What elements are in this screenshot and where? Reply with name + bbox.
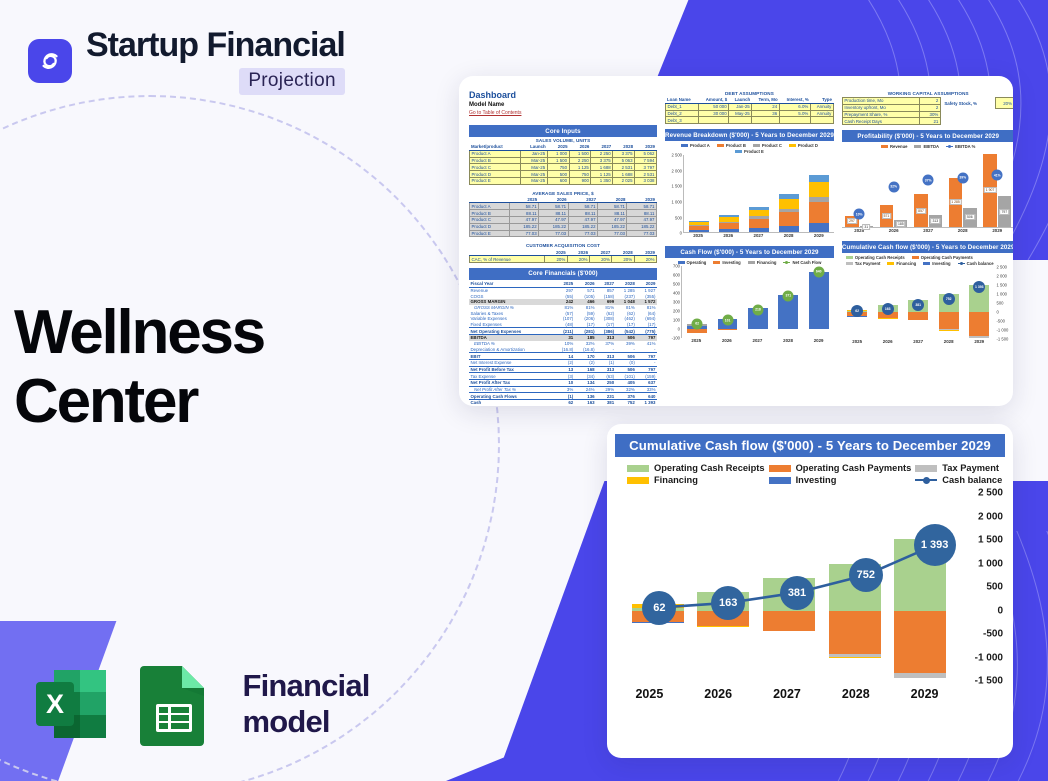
table-cell: [698, 117, 728, 124]
row-label: Tax Expense: [469, 373, 553, 380]
legend-label: Investing: [796, 475, 837, 485]
legend-item: Product C: [753, 143, 782, 148]
table-cell: 47.97: [568, 217, 597, 224]
table-row: Tax Expense(3)(34)(63)(101)(159): [469, 373, 657, 380]
table-cell: 1 125: [569, 164, 591, 171]
legend-swatch: [681, 144, 688, 147]
y-tick: 500: [664, 215, 682, 220]
table-cell: 7 594: [635, 157, 657, 164]
table-cell: 168: [575, 366, 596, 373]
legend-swatch: [923, 262, 930, 265]
working-capital-caption: WORKING CAPITAL ASSUMPTIONS: [842, 90, 1013, 97]
table-cell: Product E: [470, 230, 510, 237]
table-cell: 136: [575, 393, 596, 400]
cash-balance-point: 752: [849, 558, 883, 592]
legend-swatch: [789, 144, 796, 147]
table-cell: Debt_1: [666, 103, 699, 110]
legend-swatch: [846, 262, 853, 265]
table-cell: 33%: [636, 386, 657, 393]
table-cell: 1 350: [591, 177, 613, 184]
table-cell: 185.22: [509, 223, 538, 230]
bar-segment: [809, 202, 828, 223]
safety-stock-value: 20%: [995, 98, 1013, 109]
table-cell: Jan-25: [520, 150, 547, 157]
legend-label: Product A: [690, 143, 710, 148]
cash-balance-line-small: [842, 267, 1013, 406]
table-cell: 797: [636, 353, 657, 360]
table-cell: 185.22: [598, 223, 627, 230]
legend-swatch: [912, 256, 919, 259]
table-cell: Product A: [470, 203, 510, 210]
table-cell: 1 393: [636, 400, 657, 407]
y-tick: 1 500: [664, 184, 682, 189]
table-cell: Product E: [470, 177, 521, 184]
cumulative-cash-flow-chart-small: Operating Cash ReceiptsOperating Cash Pa…: [842, 253, 1013, 344]
row-label: Net Interest Expense: [469, 359, 553, 366]
table-cell: Product D: [470, 223, 510, 230]
x-tick: 2026: [723, 233, 733, 238]
table-cell: 50 000: [698, 103, 728, 110]
safety-stock-table: Safety Stock, % 20%: [943, 97, 1013, 109]
table-cell: 185.22: [627, 223, 657, 230]
dashboard-title: Dashboard: [469, 90, 657, 100]
table-cell: 21: [919, 118, 940, 125]
table-cell: 88.11: [598, 210, 627, 217]
table-cell: 20%: [567, 256, 589, 263]
legend-item: Product B: [717, 143, 746, 148]
bar-column: [779, 155, 798, 232]
table-cell: (34): [575, 373, 596, 380]
y-tick: 100: [664, 318, 680, 323]
legend-item: Operating Cash Payments: [912, 255, 973, 260]
legend-swatch: [627, 465, 649, 472]
table-cell: 2: [919, 104, 940, 111]
row-label: Operating Cash Flows: [469, 393, 553, 400]
legend-label: Operating: [687, 260, 707, 265]
table-cell: 47.97: [598, 217, 627, 224]
table-cell: Annuity: [810, 103, 833, 110]
y-tick: 600: [664, 273, 680, 278]
bar-segment: [809, 175, 828, 182]
working-capital-block: Production time, Mo2Inventory upfront, M…: [842, 97, 1013, 125]
table-cell: 5 063: [613, 157, 635, 164]
table-cell: May-25: [729, 110, 752, 117]
table-cell: Product B: [470, 157, 521, 164]
legend-item: Product E: [735, 149, 764, 154]
table-cell: 47.97: [509, 217, 538, 224]
table-cell: 1 500: [569, 150, 591, 157]
dashboard-inputs-column: Dashboard Model Name Go to Table of Cont…: [469, 90, 657, 406]
table-cell: 47.97: [539, 217, 568, 224]
table-cell: 1 500: [547, 157, 569, 164]
average-price-table: 20252026202720282029 Product A58.7158.71…: [469, 197, 657, 238]
legend-label: Operating Cash Receipts: [654, 463, 765, 473]
cumulative-cash-flow-card[interactable]: Cumulative Cash flow ($'000) - 5 Years t…: [607, 424, 1013, 758]
table-cell: 88.11: [568, 210, 597, 217]
table-cell: Prepayment Share, %: [842, 111, 919, 118]
cash-flow-bar: Cash Flow ($'000) - 5 Years to December …: [665, 246, 834, 258]
legend-swatch: [748, 261, 755, 264]
table-cell: (3): [553, 373, 574, 380]
y-tick: 1 000: [664, 199, 682, 204]
table-cell: 88.11: [509, 210, 538, 217]
table-cell: 77.03: [509, 230, 538, 237]
table-cell: 88.11: [627, 210, 657, 217]
swirl-e-logo-icon: [28, 39, 72, 83]
row-label: Net Profit Before Tax: [469, 366, 553, 373]
table-cell: 750: [569, 171, 591, 178]
line-point-label: 62: [692, 318, 703, 329]
legend-label: Product B: [726, 143, 746, 148]
cash-balance-point: 381: [780, 576, 814, 610]
dashboard-preview-card[interactable]: Dashboard Model Name Go to Table of Cont…: [459, 76, 1013, 406]
x-tick: 2025: [623, 687, 675, 701]
table-cell: 2: [919, 98, 940, 105]
y-tick: 1 000: [978, 558, 1003, 569]
bar-column: [809, 155, 828, 232]
y-tick: 2 500: [978, 488, 1003, 499]
legend-label: Financing: [757, 260, 777, 265]
legend-swatch: [881, 145, 888, 148]
table-row: Product B88.1188.1188.1188.1188.11: [470, 210, 657, 217]
line-point-label: 10%: [854, 209, 865, 220]
table-cell: 185.22: [568, 223, 597, 230]
brand-text: Startup Financial Projection: [86, 28, 345, 95]
legend-item: Tax Payment: [915, 463, 1002, 473]
table-cell: 500: [547, 171, 569, 178]
table-cell: 30%: [919, 111, 940, 118]
table-cell: 20%: [590, 256, 612, 263]
page-title-line1: Wellness: [14, 298, 264, 367]
line-point-label: 39%: [957, 172, 968, 183]
table-cell: (1): [596, 359, 616, 366]
legend-item: Financing: [627, 475, 765, 485]
table-cell: 20%: [634, 256, 656, 263]
table-cell: 14: [553, 353, 574, 360]
y-tick: 400: [664, 291, 680, 296]
bar-segment: [779, 212, 798, 226]
model-name-label: Model Name: [469, 102, 657, 108]
table-row: Product AJan-251 0001 5002 2503 3755 062: [470, 150, 657, 157]
table-cell: Mar-25: [520, 171, 547, 178]
table-cell: 13: [553, 366, 574, 373]
microsoft-excel-icon: X: [30, 662, 114, 746]
table-cell: (63): [596, 373, 616, 380]
table-row: Variable Expenses(107)(206)(308)(462)(69…: [469, 316, 657, 322]
legend-item: Revenue: [881, 144, 907, 149]
legend-label: Product C: [762, 143, 782, 148]
bar-segment: [719, 229, 738, 232]
dashboard-right-column: WORKING CAPITAL ASSUMPTIONS Production t…: [842, 90, 1013, 406]
legend-label: Investing: [722, 260, 740, 265]
core-financials-table: Fiscal Year20252026202720282029 Revenue2…: [469, 281, 657, 406]
financial-model-label: Financial model: [242, 668, 450, 740]
core-financials-bar: Core Financials ($'000): [469, 268, 657, 280]
table-cell: [779, 117, 810, 124]
table-cell: 77.03: [568, 230, 597, 237]
legend-item: Product A: [681, 143, 710, 148]
legend-label: Revenue: [890, 144, 907, 149]
y-tick: 2 000: [978, 511, 1003, 522]
legend-item: Investing: [713, 260, 740, 265]
legend-swatch: [753, 144, 760, 147]
table-cell: 6.0%: [779, 103, 810, 110]
legend-swatch: [783, 262, 790, 263]
table-row: Debt_230 000May-25365.0%Annuity: [666, 110, 834, 117]
x-tick: 2028: [830, 687, 882, 701]
legend-label: Operating Cash Payments: [921, 255, 973, 260]
debt-assumptions-table: Loan NameAmount, $LaunchTerm, MoInterest…: [665, 97, 834, 124]
table-header-row: Market/productLaunch20252026202720282029: [470, 144, 657, 150]
line-point-label: 218: [752, 304, 763, 315]
table-row: Cash Receipt Days21: [842, 118, 940, 125]
table-cell: (2): [575, 359, 596, 366]
legend-swatch: [713, 261, 720, 264]
profitability-chart: RevenueEBITDAEBITDA % 297315711858573131…: [842, 142, 1013, 233]
table-row: Net Interest Expense(2)(2)(1)(0)-: [469, 359, 657, 366]
table-cell: Debt_2: [666, 110, 699, 117]
table-cell: 1 688: [613, 171, 635, 178]
table-cell: Production time, Mo: [842, 98, 919, 105]
table-cell: (211): [553, 328, 574, 335]
legend-swatch: [735, 150, 742, 153]
bar-segment: [779, 226, 798, 232]
y-tick: -500: [983, 629, 1003, 640]
table-row: Prepayment Share, %30%: [842, 111, 940, 118]
table-cell: 170: [575, 353, 596, 360]
bar-segment: [689, 230, 708, 232]
table-cell: 185.22: [539, 223, 568, 230]
line-point-label: 752: [943, 293, 955, 305]
table-cell: 32%: [616, 386, 637, 393]
table-cell: 58.71: [598, 203, 627, 210]
legend-label: Cash balance: [942, 475, 1002, 485]
table-cell: (0): [616, 359, 637, 366]
brand-subtitle: Projection: [239, 68, 345, 95]
revenue-breakdown-chart: Product AProduct BProduct CProduct DProd…: [665, 141, 834, 238]
y-tick: -1 000: [975, 652, 1003, 663]
table-cell: 506: [616, 353, 637, 360]
table-row: Product EMar-256009001 3502 0253 038: [470, 177, 657, 184]
table-row: Net Profit Before Tax13168313506797: [469, 366, 657, 373]
table-cell: 5 062: [635, 150, 657, 157]
table-cell: 62: [553, 400, 574, 407]
legend-item: EBITDA %: [946, 144, 975, 149]
x-axis: 20252026202720282029: [615, 687, 959, 701]
table-cell: 163: [575, 400, 596, 407]
table-cell: 2 250: [591, 150, 613, 157]
legend-item: Operating Cash Receipts: [846, 255, 905, 260]
legend-item: Operating Cash Receipts: [627, 463, 765, 473]
bar-column: [689, 155, 708, 232]
table-cell: 640: [636, 393, 657, 400]
x-tick: 2028: [784, 233, 794, 238]
table-cell: 231: [596, 393, 616, 400]
left-panel: Startup Financial Projection Wellness Ce…: [0, 0, 450, 781]
bar-segment: [809, 182, 828, 196]
table-cell: 797: [636, 366, 657, 373]
legend-swatch: [769, 477, 791, 484]
y-tick: 1 500: [978, 535, 1003, 546]
row-label: Net Profit After Tax: [469, 379, 553, 386]
table-cell: 58.71: [627, 203, 657, 210]
legend-label: Product E: [744, 149, 764, 154]
table-cell: Product D: [470, 171, 521, 178]
table-cell: 58.71: [539, 203, 568, 210]
legend-label: Net Cash Flow: [792, 260, 821, 265]
y-tick: 2 500: [664, 153, 682, 158]
table-cell: 405: [616, 379, 637, 386]
revenue-breakdown-bar: Revenue Breakdown ($'000) - 5 Years to D…: [665, 129, 834, 141]
safety-stock-label: Safety Stock, %: [943, 98, 996, 109]
cash-balance-point: 1 393: [914, 524, 956, 566]
table-cell: 77.03: [627, 230, 657, 237]
legend-item: Product D: [789, 143, 818, 148]
y-tick: 0: [997, 605, 1003, 616]
table-row: Net Profit After Tax %3%24%29%32%33%: [469, 386, 657, 393]
table-cell: 2 025: [613, 177, 635, 184]
y-tick: 700: [664, 264, 680, 269]
table-cell: 752: [616, 400, 637, 407]
table-cell: (386): [596, 328, 616, 335]
line-point-label: 37%: [923, 175, 934, 186]
table-row: Cash621633817521 393: [469, 400, 657, 407]
y-tick: -1 500: [975, 676, 1003, 687]
legend-label: Operating Cash Payments: [796, 463, 912, 473]
legend-swatch: [946, 146, 953, 147]
legend-item: Operating Cash Payments: [769, 463, 912, 473]
y-tick: 500: [664, 282, 680, 287]
legend-label: EBITDA: [923, 144, 939, 149]
working-capital-table: Production time, Mo2Inventory upfront, M…: [842, 97, 941, 125]
table-cell: 2 250: [569, 157, 591, 164]
x-tick: 2029: [814, 233, 824, 238]
legend-swatch: [915, 479, 937, 481]
table-cell: 58.71: [568, 203, 597, 210]
table-cell: 58.71: [509, 203, 538, 210]
legend-label: Financing: [654, 475, 698, 485]
sales-volume-caption: SALES VOLUME, UNITS: [469, 137, 657, 144]
table-cell: Product C: [470, 164, 521, 171]
chart-plot-area: 2 5002 0001 5001 0005000-500-1 000-1 500…: [625, 493, 999, 681]
cash-balance-point: 163: [711, 586, 745, 620]
table-cell: (1): [553, 393, 574, 400]
table-cell: Product A: [470, 150, 521, 157]
table-cell: 637: [636, 379, 657, 386]
table-cell: 24: [752, 103, 779, 110]
line-point-label: 32%: [888, 181, 899, 192]
table-of-contents-link[interactable]: Go to Table of Contents: [469, 110, 657, 116]
x-tick: 2027: [754, 233, 764, 238]
cac-table: 20252026202720282029 CAC, % of Revenue20…: [469, 249, 657, 263]
bar-column: [719, 155, 738, 232]
table-cell: 376: [616, 393, 637, 400]
dashboard-heading-block: Dashboard Model Name Go to Table of Cont…: [469, 90, 657, 116]
row-label: EBIT: [469, 353, 553, 360]
table-cell: 88.11: [539, 210, 568, 217]
legend-swatch: [958, 263, 965, 264]
profitability-bar: Profitability ($'000) - 5 Years to Decem…: [842, 130, 1013, 142]
table-cell: Cash Receipt Days: [842, 118, 919, 125]
x-tick: 2029: [899, 687, 951, 701]
table-cell: 30 000: [698, 110, 728, 117]
legend-item: Net Cash Flow: [783, 260, 821, 265]
cumulative-chart-title: Cumulative Cash flow ($'000) - 5 Years t…: [615, 434, 1005, 457]
row-label: Cash: [469, 400, 553, 407]
table-cell: [810, 117, 833, 124]
y-tick: 500: [986, 582, 1003, 593]
legend-item: Cash balance: [915, 475, 1002, 485]
table-row: Net Operating Expenses(211)(281)(386)(54…: [469, 328, 657, 335]
page-title: Wellness Center: [14, 298, 264, 437]
table-cell: 2 531: [613, 164, 635, 171]
legend-swatch: [769, 465, 791, 472]
table-row: Debt_3: [666, 117, 834, 124]
legend-label: Operating Cash Receipts: [855, 255, 905, 260]
table-cell: 313: [596, 353, 616, 360]
y-tick: 200: [664, 309, 680, 314]
table-cell: 313: [596, 366, 616, 373]
cac-caption: CUSTOMER ACQUISITION COST: [469, 242, 657, 249]
y-tick: 300: [664, 300, 680, 305]
table-cell: 77.03: [539, 230, 568, 237]
table-row: EBIT14170313506797: [469, 353, 657, 360]
core-inputs-bar: Core Inputs: [469, 125, 657, 137]
legend-item: Financing: [748, 260, 777, 265]
bar-segment: [749, 219, 768, 228]
table-cell: Jan-25: [729, 103, 752, 110]
table-cell: 47.97: [627, 217, 657, 224]
table-cell: (101): [616, 373, 637, 380]
line-point-label: 101: [722, 315, 733, 326]
legend-label: Tax Payment: [942, 463, 999, 473]
chart-legend: Operating Cash ReceiptsOperating Cash Pa…: [615, 457, 1005, 489]
table-cell: Mar-25: [520, 177, 547, 184]
table-cell: 1 688: [591, 164, 613, 171]
table-cell: [752, 117, 779, 124]
legend-label: Product D: [798, 143, 818, 148]
table-row: Product E77.0377.0377.0377.0377.03: [470, 230, 657, 237]
table-cell: 506: [616, 366, 637, 373]
table-cell: 1 000: [547, 150, 569, 157]
legend-item: Investing: [769, 475, 912, 485]
table-cell: 20%: [545, 256, 567, 263]
table-cell: 2 531: [635, 171, 657, 178]
cash-flow-chart: OperatingInvestingFinancingNet Cash Flow…: [665, 258, 834, 343]
table-cell: 3 375: [591, 157, 613, 164]
line-point-label: 371: [783, 290, 794, 301]
bar-segment: [749, 228, 768, 232]
legend-label: EBITDA %: [955, 144, 975, 149]
debt-assumptions-caption: DEBT ASSUMPTIONS: [665, 90, 834, 97]
brand-logo-row: Startup Financial Projection: [28, 28, 345, 95]
brand-title: Startup Financial: [86, 28, 345, 64]
table-row: Operating Cash Flows(1)136231376640: [469, 393, 657, 400]
table-row: Debt_150 000Jan-25246.0%Annuity: [666, 103, 834, 110]
y-tick: -100: [664, 336, 680, 341]
avg-price-caption: AVERAGE SALES PRICE, $: [469, 190, 657, 197]
x-tick: 2027: [761, 687, 813, 701]
table-cell: Debt_3: [666, 117, 699, 124]
table-cell: 3%: [553, 386, 574, 393]
google-sheets-icon: [136, 662, 214, 746]
table-cell: 20%: [612, 256, 634, 263]
table-cell: 250: [596, 379, 616, 386]
dashboard-middle-column: DEBT ASSUMPTIONS Loan NameAmount, $Launc…: [665, 90, 834, 406]
legend-swatch: [846, 256, 853, 259]
legend-swatch: [627, 477, 649, 484]
table-cell: (2): [553, 359, 574, 366]
